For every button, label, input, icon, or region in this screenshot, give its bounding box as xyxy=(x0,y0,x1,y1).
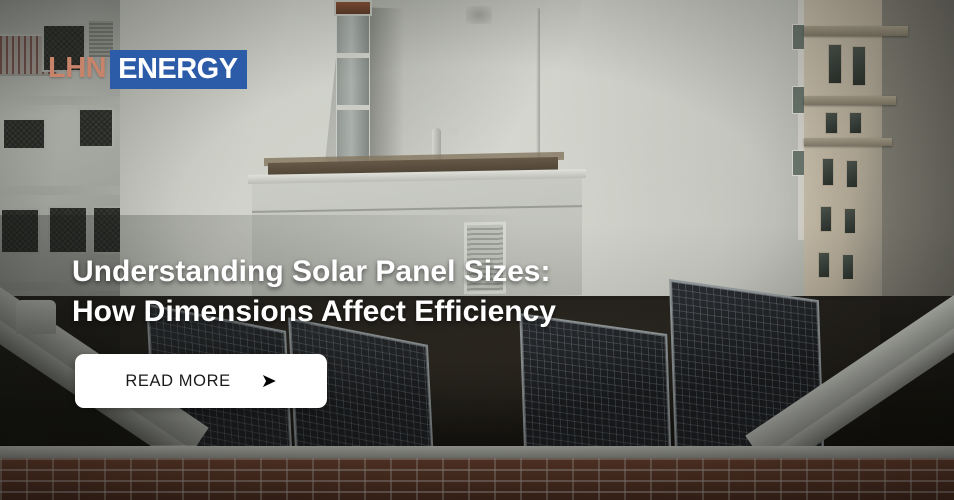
headline-line-1: Understanding Solar Panel Sizes: xyxy=(72,252,692,292)
arrow-right-icon: ➤ xyxy=(261,372,277,391)
brand-logo[interactable]: LHN ENERGY xyxy=(48,50,247,89)
read-more-button[interactable]: READ MORE ➤ xyxy=(75,354,327,408)
headline-line-2: How Dimensions Affect Efficiency xyxy=(72,292,692,332)
logo-text-lhn: LHN xyxy=(48,50,110,89)
read-more-label: READ MORE xyxy=(125,372,230,391)
hero-banner: LHN ENERGY Understanding Solar Panel Siz… xyxy=(0,0,954,500)
logo-badge-energy: ENERGY xyxy=(110,50,246,89)
page-title: Understanding Solar Panel Sizes: How Dim… xyxy=(72,252,692,332)
